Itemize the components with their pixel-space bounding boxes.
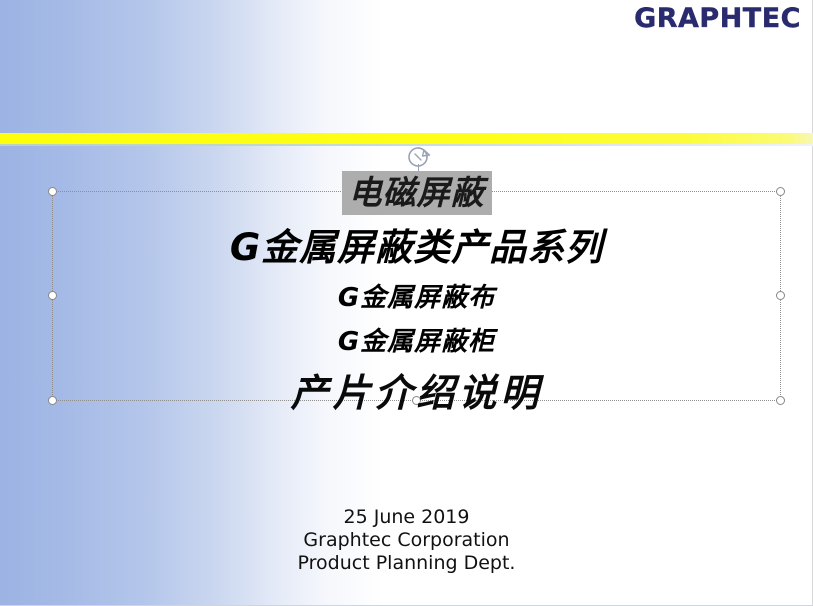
footer-date: 25 June 2019: [0, 506, 813, 529]
title-text-block[interactable]: 电磁屏蔽 G金属屏蔽类产品系列 G金属屏蔽布 G金属屏蔽柜 产片介绍说明: [52, 191, 781, 419]
footer-department: Product Planning Dept.: [0, 552, 813, 575]
slide-footer: 25 June 2019 Graphtec Corporation Produc…: [0, 506, 813, 575]
presentation-slide: GRAPHTEC 电磁屏蔽 G金属屏蔽类产品系列 G金属屏蔽布 G金属屏蔽柜: [0, 0, 813, 606]
title-line-emc[interactable]: 电磁屏蔽: [52, 168, 781, 218]
title-line-product-series[interactable]: G金属屏蔽类产品系列: [52, 220, 781, 276]
footer-company: Graphtec Corporation: [0, 529, 813, 552]
selected-text-run[interactable]: 电磁屏蔽: [342, 171, 492, 215]
accent-band-yellow: [0, 133, 813, 144]
title-line-shielding-cabinet[interactable]: G金属屏蔽柜: [52, 320, 781, 364]
title-line-introduction[interactable]: 产片介绍说明: [52, 367, 781, 419]
rotate-icon[interactable]: [405, 146, 433, 170]
graphtec-logo: GRAPHTEC: [634, 4, 801, 34]
title-line-shielding-cloth[interactable]: G金属屏蔽布: [52, 276, 781, 320]
